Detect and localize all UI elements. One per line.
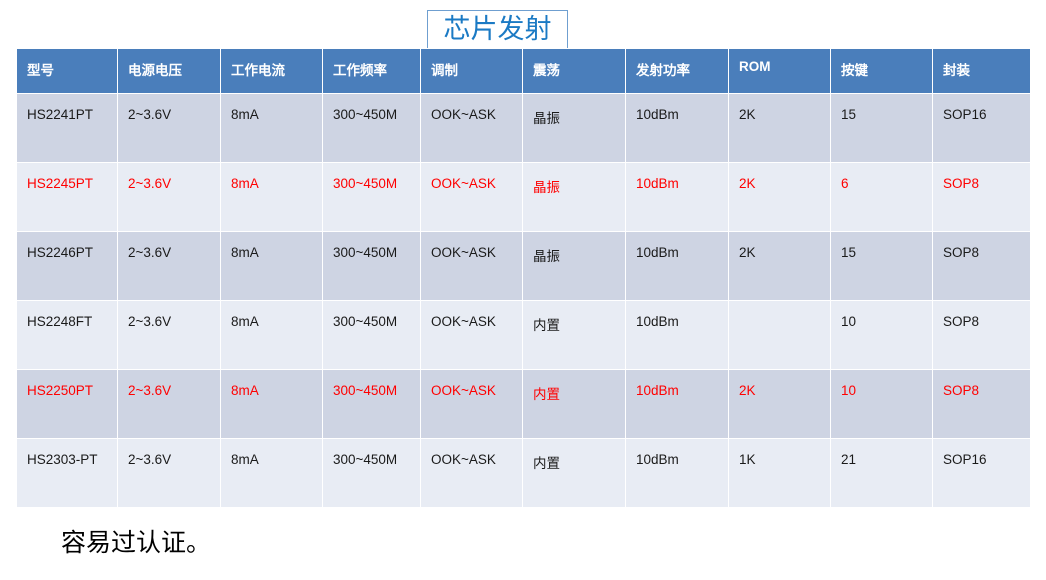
table-row: HS2241PT2~3.6V8mA300~450MOOK~ASK晶振10dBm2…	[17, 94, 1031, 163]
table-cell: HS2245PT	[17, 163, 118, 232]
table-cell: 10dBm	[626, 370, 729, 439]
table-cell: 10dBm	[626, 232, 729, 301]
table-cell: SOP16	[933, 439, 1031, 508]
table-cell: HS2246PT	[17, 232, 118, 301]
column-header-7: ROM	[729, 49, 831, 94]
table-cell: OOK~ASK	[421, 301, 523, 370]
table-cell: 300~450M	[323, 301, 421, 370]
table-cell: 2~3.6V	[118, 301, 221, 370]
footer-note: 容易过认证。	[61, 528, 211, 558]
column-header-3: 工作频率	[323, 49, 421, 94]
table-cell: SOP16	[933, 94, 1031, 163]
table-header-row: 型号电源电压工作电流工作频率调制震荡发射功率ROM按键封装	[17, 49, 1031, 94]
page-title: 芯片发射	[444, 16, 552, 43]
table-cell: SOP8	[933, 232, 1031, 301]
table-row: HS2303-PT2~3.6V8mA300~450MOOK~ASK内置10dBm…	[17, 439, 1031, 508]
table-cell: SOP8	[933, 301, 1031, 370]
table-cell: 2~3.6V	[118, 232, 221, 301]
table-cell: 2~3.6V	[118, 370, 221, 439]
table-cell: 2K	[729, 232, 831, 301]
table-row: HS2245PT2~3.6V8mA300~450MOOK~ASK晶振10dBm2…	[17, 163, 1031, 232]
table-cell: 内置	[523, 370, 626, 439]
table-cell: OOK~ASK	[421, 370, 523, 439]
table-row: HS2246PT2~3.6V8mA300~450MOOK~ASK晶振10dBm2…	[17, 232, 1031, 301]
column-header-9: 封装	[933, 49, 1031, 94]
chip-transmitter-spec-table: 型号电源电压工作电流工作频率调制震荡发射功率ROM按键封装 HS2241PT2~…	[16, 48, 1031, 508]
table-cell: 8mA	[221, 370, 323, 439]
table-cell: 6	[831, 163, 933, 232]
table-cell: 内置	[523, 439, 626, 508]
column-header-8: 按键	[831, 49, 933, 94]
table-cell: 300~450M	[323, 232, 421, 301]
table-cell: 10	[831, 370, 933, 439]
slide-root: { "title": { "text": "芯片发射", "color": "#…	[0, 0, 1046, 580]
table-cell: OOK~ASK	[421, 163, 523, 232]
table-cell: 2~3.6V	[118, 94, 221, 163]
column-header-0: 型号	[17, 49, 118, 94]
table-cell: 2K	[729, 163, 831, 232]
table-cell	[729, 301, 831, 370]
table-cell: HS2248FT	[17, 301, 118, 370]
table-cell: 8mA	[221, 163, 323, 232]
column-header-1: 电源电压	[118, 49, 221, 94]
table-cell: 8mA	[221, 94, 323, 163]
table-cell: 300~450M	[323, 163, 421, 232]
table-cell: HS2303-PT	[17, 439, 118, 508]
table-cell: HS2250PT	[17, 370, 118, 439]
table-cell: 2~3.6V	[118, 439, 221, 508]
table-cell: 2K	[729, 94, 831, 163]
table-cell: 晶振	[523, 163, 626, 232]
table-cell: 300~450M	[323, 370, 421, 439]
table-cell: 8mA	[221, 439, 323, 508]
table-cell: 内置	[523, 301, 626, 370]
table-cell: 10dBm	[626, 301, 729, 370]
table-cell: 300~450M	[323, 94, 421, 163]
table-cell: 1K	[729, 439, 831, 508]
table-cell: 10dBm	[626, 163, 729, 232]
table-header: 型号电源电压工作电流工作频率调制震荡发射功率ROM按键封装	[17, 49, 1031, 94]
table-cell: 10	[831, 301, 933, 370]
column-header-5: 震荡	[523, 49, 626, 94]
table-body: HS2241PT2~3.6V8mA300~450MOOK~ASK晶振10dBm2…	[17, 94, 1031, 508]
table-cell: 15	[831, 232, 933, 301]
table-cell: 21	[831, 439, 933, 508]
table-cell: OOK~ASK	[421, 439, 523, 508]
table-cell: 10dBm	[626, 94, 729, 163]
column-header-6: 发射功率	[626, 49, 729, 94]
column-header-2: 工作电流	[221, 49, 323, 94]
table-row: HS2248FT2~3.6V8mA300~450MOOK~ASK内置10dBm1…	[17, 301, 1031, 370]
table-cell: SOP8	[933, 370, 1031, 439]
table-cell: 2~3.6V	[118, 163, 221, 232]
table-row: HS2250PT2~3.6V8mA300~450MOOK~ASK内置10dBm2…	[17, 370, 1031, 439]
table-cell: 15	[831, 94, 933, 163]
table-cell: 10dBm	[626, 439, 729, 508]
table-cell: 晶振	[523, 232, 626, 301]
table-cell: 8mA	[221, 232, 323, 301]
table-cell: HS2241PT	[17, 94, 118, 163]
table-cell: 300~450M	[323, 439, 421, 508]
column-header-4: 调制	[421, 49, 523, 94]
table-cell: 8mA	[221, 301, 323, 370]
table-cell: 晶振	[523, 94, 626, 163]
page-title-box: 芯片发射	[427, 10, 568, 48]
table-cell: OOK~ASK	[421, 94, 523, 163]
table-cell: 2K	[729, 370, 831, 439]
table-cell: SOP8	[933, 163, 1031, 232]
table-cell: OOK~ASK	[421, 232, 523, 301]
